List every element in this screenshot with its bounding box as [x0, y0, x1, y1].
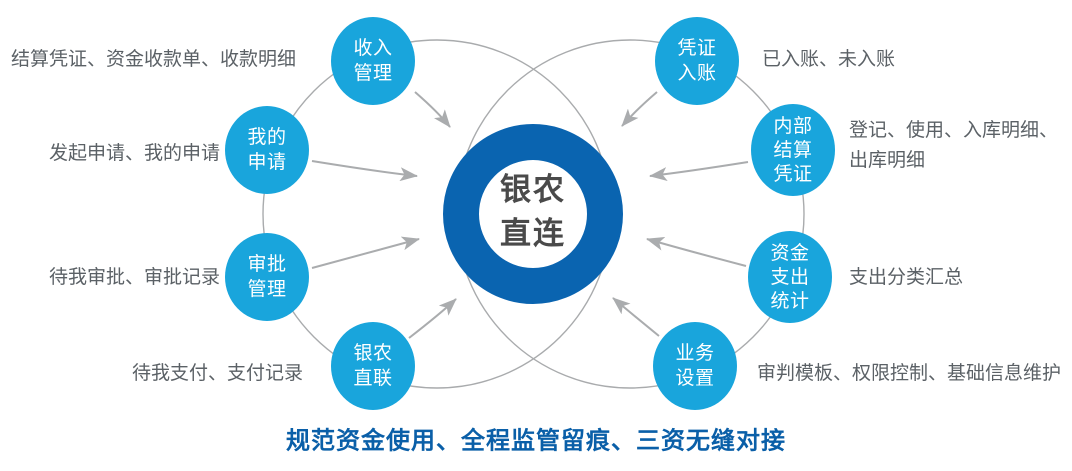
node-fund-expenditure-stats-label-1: 资金: [770, 242, 809, 264]
node-bank-farm-direct-label-2: 直联: [353, 367, 392, 389]
connector-bank-farm-direct: [409, 299, 456, 338]
node-approval-management[interactable]: 审批 管理: [225, 233, 309, 321]
detail-business-settings: 审判模板、权限控制、基础信息维护: [757, 362, 1061, 384]
node-fund-expenditure-stats-label-3: 统计: [770, 290, 809, 312]
detail-fund-expenditure-stats: 支出分类汇总: [849, 266, 963, 288]
connector-income-management: [415, 92, 450, 127]
background-circle-left: [263, 40, 611, 388]
node-approval-management-label-1: 审批: [247, 253, 286, 275]
node-income-management-shape[interactable]: [331, 17, 415, 105]
hub-ring: [461, 142, 605, 286]
node-business-settings[interactable]: 业务 设置: [653, 322, 737, 410]
node-fund-expenditure-stats-label-2: 支出: [770, 266, 809, 288]
node-my-application-label-2: 申请: [247, 151, 286, 173]
connector-business-settings: [613, 298, 659, 336]
detail-approval-management: 待我审批、审批记录: [49, 266, 220, 288]
node-my-application-label-1: 我的: [247, 126, 286, 148]
architecture-diagram-svg: 银农 直连 收入 管理 结算凭证、资金收款单、收款明细 我的 申请 发起申请、我…: [0, 0, 1072, 471]
diagram-caption: 规范资金使用、全程监管留痕、三资无缝对接: [286, 426, 786, 454]
node-voucher-posting[interactable]: 凭证 入账: [655, 17, 739, 105]
detail-income-management: 结算凭证、资金收款单、收款明细: [11, 48, 296, 70]
detail-my-application: 发起申请、我的申请: [49, 142, 220, 164]
node-fund-expenditure-stats[interactable]: 资金 支出 统计: [748, 231, 832, 323]
node-internal-settlement-voucher-label-1: 内部: [773, 115, 812, 137]
connector-my-application: [312, 161, 417, 176]
node-approval-management-shape[interactable]: [225, 233, 309, 321]
node-my-application[interactable]: 我的 申请: [225, 106, 309, 194]
node-voucher-posting-label-1: 凭证: [677, 37, 716, 59]
detail-bank-farm-direct: 待我支付、支付记录: [132, 362, 303, 384]
detail-internal-settlement-voucher-line1: 登记、使用、入库明细、: [849, 119, 1058, 141]
node-approval-management-label-2: 管理: [247, 278, 286, 300]
node-income-management-label-1: 收入: [353, 37, 392, 59]
node-bank-farm-direct-label-1: 银农: [353, 342, 392, 364]
node-voucher-posting-label-2: 入账: [677, 62, 716, 84]
node-business-settings-label-1: 业务: [675, 342, 714, 364]
hub-label-line1: 银农: [500, 172, 566, 207]
connector-approval-management: [312, 239, 419, 268]
connector-fund-expenditure-stats: [647, 239, 746, 266]
background-circle-right: [456, 40, 804, 388]
diagram-canvas: 银农 直连 收入 管理 结算凭证、资金收款单、收款明细 我的 申请 发起申请、我…: [0, 0, 1072, 471]
connector-internal-settlement-voucher: [650, 162, 748, 176]
node-income-management-label-2: 管理: [353, 62, 392, 84]
hub-label-line2: 直连: [500, 216, 566, 251]
node-internal-settlement-voucher-label-2: 结算: [773, 139, 812, 161]
hub: 银农 直连: [461, 142, 605, 286]
connector-voucher-posting: [622, 92, 657, 126]
node-bank-farm-direct[interactable]: 银农 直联: [331, 322, 415, 410]
detail-internal-settlement-voucher-line2: 出库明细: [849, 149, 925, 171]
node-my-application-shape[interactable]: [225, 106, 309, 194]
detail-voucher-posting: 已入账、未入账: [762, 48, 895, 70]
node-business-settings-shape[interactable]: [653, 322, 737, 410]
node-internal-settlement-voucher[interactable]: 内部 结算 凭证: [751, 104, 835, 196]
node-voucher-posting-shape[interactable]: [655, 17, 739, 105]
node-internal-settlement-voucher-label-3: 凭证: [773, 163, 812, 185]
node-bank-farm-direct-shape[interactable]: [331, 322, 415, 410]
node-business-settings-label-2: 设置: [675, 367, 714, 389]
node-income-management[interactable]: 收入 管理: [331, 17, 415, 105]
